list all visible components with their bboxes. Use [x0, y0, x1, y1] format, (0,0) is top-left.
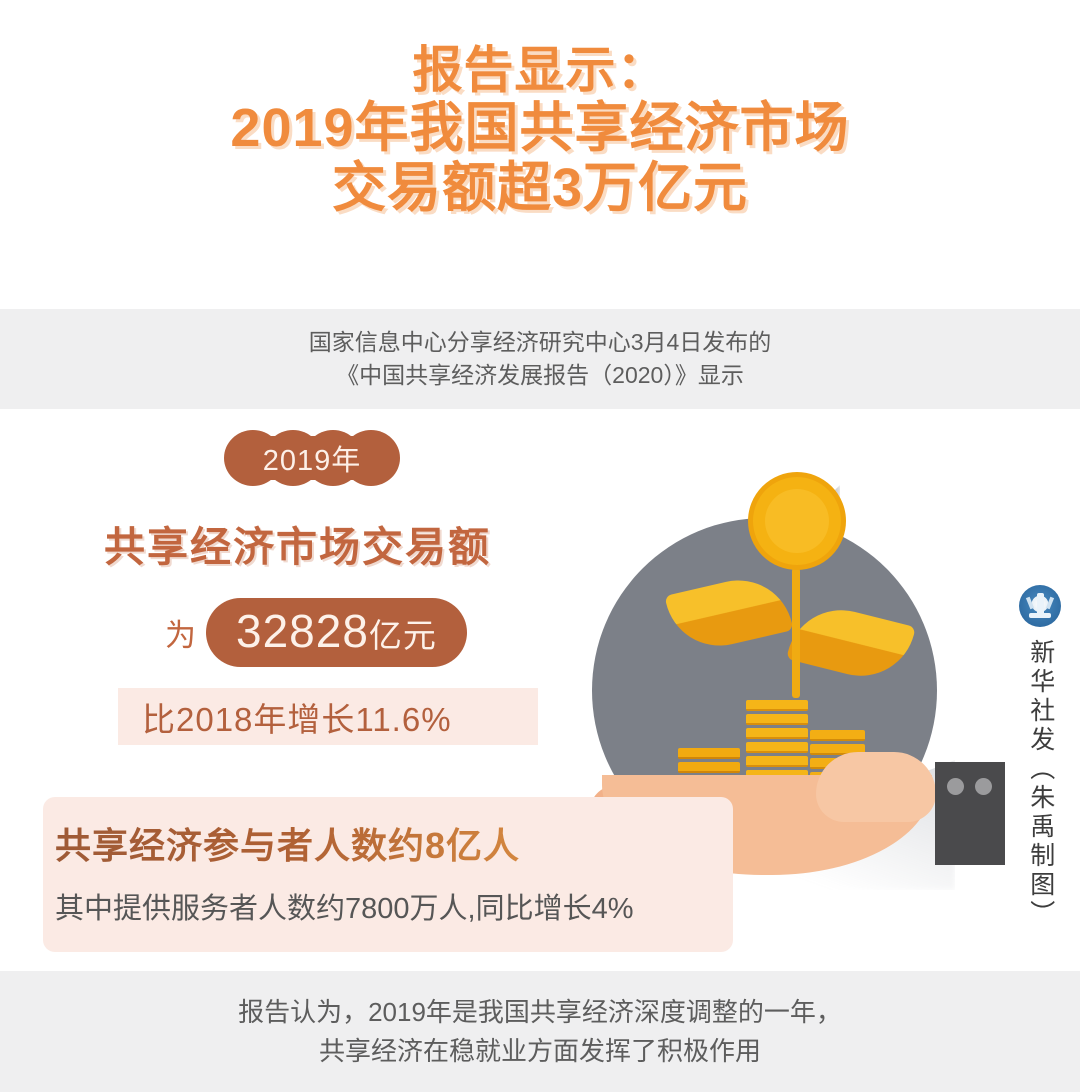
subtitle-line-1: 国家信息中心分享经济研究中心3月4日发布的 — [309, 326, 772, 359]
logo-tower — [1037, 593, 1044, 615]
growth-text: 比2018年增长11.6% — [142, 693, 452, 741]
title-line-2: 2019年我国共享经济市场 — [0, 98, 1080, 158]
growth-band: 比2018年增长11.6% — [118, 688, 538, 745]
year-badge-label: 2019年 — [224, 430, 400, 486]
credit-text: 新华社发（朱禹制图） — [1026, 639, 1054, 929]
coin-row — [746, 756, 808, 767]
subtitle-inner: 国家信息中心分享经济研究中心3月4日发布的 《中国共享经济发展报告（2020）》… — [0, 309, 1080, 409]
title-block: 报告显示： 2019年我国共享经济市场 交易额超3万亿元 — [0, 42, 1080, 219]
logo-base — [1029, 613, 1051, 618]
title-line-3: 交易额超3万亿元 — [0, 158, 1080, 218]
coin-row — [810, 730, 865, 741]
logo-ray — [1026, 597, 1034, 610]
gold-coin-icon — [748, 472, 846, 570]
logo-ray — [1046, 597, 1054, 610]
plant-stem — [792, 568, 800, 698]
hand-thumb — [816, 752, 936, 822]
xinhua-logo-icon — [1019, 585, 1061, 627]
amount-value: 32828 — [236, 605, 369, 657]
credit-block: 新华社发（朱禹制图） — [1012, 585, 1068, 929]
footer-line-2: 共享经济在稳就业方面发挥了积极作用 — [319, 1032, 761, 1071]
title-line-1: 报告显示： — [0, 42, 1080, 98]
amount-prefix: 为 — [165, 610, 196, 655]
dark-card-decoration — [935, 762, 1005, 865]
amount-row: 为 32828亿元 — [165, 598, 467, 667]
footer-line-1: 报告认为，2019年是我国共享经济深度调整的一年， — [238, 993, 842, 1032]
subtitle-line-2: 《中国共享经济发展报告（2020）》显示 — [336, 359, 744, 392]
card-dot — [947, 778, 964, 795]
amount-pill: 32828亿元 — [206, 598, 467, 667]
subtitle-band: 国家信息中心分享经济研究中心3月4日发布的 《中国共享经济发展报告（2020）》… — [0, 309, 1080, 409]
participants-headline: 共享经济参与者人数约8亿人 — [55, 817, 695, 869]
amount-unit: 亿元 — [369, 617, 437, 654]
year-badge: 2019年 — [224, 430, 400, 486]
coin-row — [746, 742, 808, 753]
coin-row — [746, 714, 808, 725]
gold-coin-inner — [765, 489, 829, 553]
stat-heading: 共享经济市场交易额 — [104, 513, 534, 573]
infographic-page: 报告显示： 2019年我国共享经济市场 交易额超3万亿元 国家信息中心分享经济研… — [0, 0, 1080, 1092]
coin-row — [678, 748, 740, 759]
coin-row — [746, 700, 808, 711]
participants-detail: 其中提供服务者人数约7800万人,同比增长4% — [55, 885, 735, 927]
card-dot — [975, 778, 992, 795]
coin-row — [678, 762, 740, 773]
footer-band: 报告认为，2019年是我国共享经济深度调整的一年， 共享经济在稳就业方面发挥了积… — [0, 971, 1080, 1092]
coin-row — [746, 728, 808, 739]
